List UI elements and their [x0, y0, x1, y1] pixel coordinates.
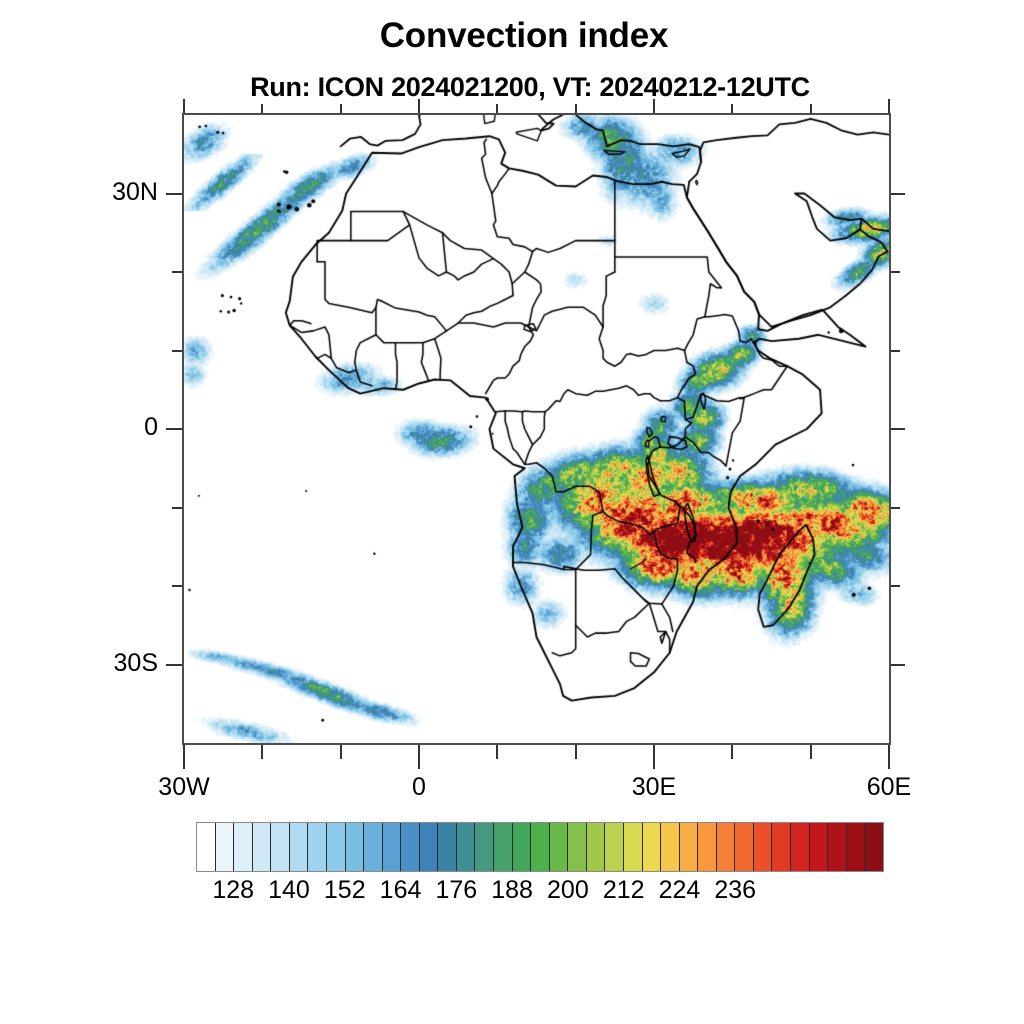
lat-label-30N: 30N	[112, 178, 158, 207]
lat-tick-right-30S	[891, 664, 905, 666]
lat-tick-30S	[166, 664, 182, 666]
colorbar-cell-27	[698, 823, 717, 871]
lon-tick-20	[575, 745, 577, 759]
colorbar-cell-6	[308, 823, 327, 871]
lat-tick-right-10	[891, 350, 900, 352]
colorbar-cell-33	[810, 823, 829, 871]
lon-label-60E: 60E	[829, 773, 949, 802]
lat-tick--10	[172, 507, 182, 509]
colorbar-tick-176: 176	[435, 876, 477, 905]
lon-label-30E: 30E	[594, 773, 714, 802]
lon-tick--20	[261, 745, 263, 759]
lon-label-30W: 30W	[124, 773, 244, 802]
lon-tick-top-0	[418, 99, 420, 113]
colorbar-cell-25	[661, 823, 680, 871]
colorbar-cell-21	[587, 823, 606, 871]
lat-tick-right-0	[891, 428, 905, 430]
colorbar-cell-1	[216, 823, 235, 871]
colorbar-cell-30	[754, 823, 773, 871]
colorbar-tick-140: 140	[268, 876, 310, 905]
colorbar-cell-18	[531, 823, 550, 871]
colorbar-tick-152: 152	[324, 876, 366, 905]
lat-label-0: 0	[144, 413, 158, 442]
lat-label-30S: 30S	[114, 649, 158, 678]
colorbar-cell-8	[346, 823, 365, 871]
lon-tick-10	[496, 745, 498, 759]
colorbar-gradient	[196, 822, 884, 872]
colorbar-cell-36	[865, 823, 883, 871]
colorbar-tick-224: 224	[659, 876, 701, 905]
lon-tick-top-20	[575, 104, 577, 113]
colorbar-tick-128: 128	[212, 876, 254, 905]
colorbar-cell-32	[791, 823, 810, 871]
colorbar-cell-29	[735, 823, 754, 871]
lon-tick-top-10	[496, 104, 498, 113]
lat-tick-20	[172, 271, 182, 273]
lat-tick-right-30N	[891, 193, 905, 195]
colorbar-tick-212: 212	[603, 876, 645, 905]
lon-tick-top-60E	[888, 99, 890, 113]
colorbar-cell-5	[290, 823, 309, 871]
colorbar-tick-164: 164	[380, 876, 422, 905]
colorbar-cell-34	[828, 823, 847, 871]
page-subtitle: Run: ICON 2024021200, VT: 20240212-12UTC	[0, 72, 1024, 103]
colorbar-cell-15	[475, 823, 494, 871]
colorbar-cell-3	[253, 823, 272, 871]
colorbar-cell-12	[420, 823, 439, 871]
lat-tick--20	[172, 585, 182, 587]
lon-tick-30W	[183, 745, 185, 769]
colorbar-cell-16	[494, 823, 513, 871]
lon-tick-top-50	[810, 104, 812, 113]
colorbar-cell-35	[847, 823, 866, 871]
lon-label-0: 0	[359, 773, 479, 802]
lat-tick-10	[172, 350, 182, 352]
map-plot-area	[182, 113, 891, 745]
colorbar-tick-200: 200	[547, 876, 589, 905]
lat-tick-right--20	[891, 585, 900, 587]
colorbar: 128140152164176188200212224236	[196, 822, 884, 872]
lat-tick-0	[166, 428, 182, 430]
colorbar-cell-22	[605, 823, 624, 871]
colorbar-cell-4	[271, 823, 290, 871]
lon-tick-top-30W	[183, 99, 185, 113]
lon-tick-40	[731, 745, 733, 759]
lat-tick-30N	[166, 193, 182, 195]
colorbar-cell-20	[568, 823, 587, 871]
colorbar-cell-31	[772, 823, 791, 871]
convection-index-heatmap	[184, 115, 889, 743]
colorbar-cell-9	[364, 823, 383, 871]
colorbar-tick-188: 188	[491, 876, 533, 905]
colorbar-cell-17	[513, 823, 532, 871]
colorbar-cell-23	[624, 823, 643, 871]
lon-tick-60E	[888, 745, 890, 769]
lon-tick-50	[810, 745, 812, 759]
colorbar-tick-236: 236	[714, 876, 756, 905]
colorbar-cell-2	[234, 823, 253, 871]
lat-tick-right--10	[891, 507, 900, 509]
lon-tick-top-40	[731, 104, 733, 113]
colorbar-cell-19	[550, 823, 569, 871]
lon-tick-30E	[653, 745, 655, 769]
colorbar-cell-7	[327, 823, 346, 871]
colorbar-cell-13	[438, 823, 457, 871]
colorbar-cell-26	[680, 823, 699, 871]
colorbar-cell-14	[457, 823, 476, 871]
lat-tick-right-20	[891, 271, 900, 273]
colorbar-cell-24	[643, 823, 662, 871]
lon-tick-0	[418, 745, 420, 769]
colorbar-cell-0	[197, 823, 216, 871]
lon-tick-top--10	[340, 104, 342, 113]
lon-tick-top-30E	[653, 99, 655, 113]
colorbar-cell-10	[383, 823, 402, 871]
lon-tick--10	[340, 745, 342, 759]
page-title: Convection index	[0, 16, 1024, 56]
colorbar-cell-28	[717, 823, 736, 871]
colorbar-cell-11	[401, 823, 420, 871]
lon-tick-top--20	[261, 104, 263, 113]
